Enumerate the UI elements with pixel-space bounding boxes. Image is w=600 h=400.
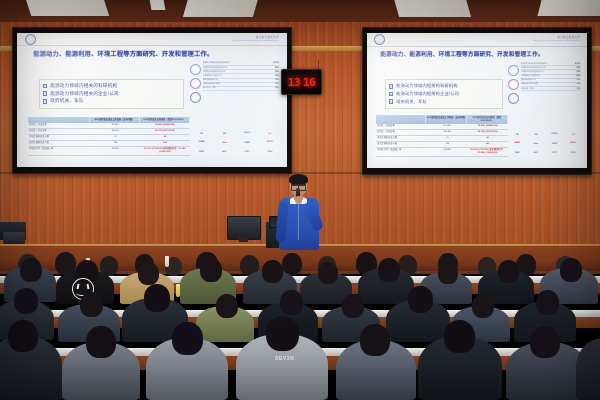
audience-head: [86, 326, 116, 358]
row-value: 院所: [275, 75, 279, 78]
jacket-zipper: [298, 200, 299, 240]
ceiling-panel: [183, 0, 259, 17]
list-item: 政府机关、军队: [389, 99, 500, 105]
company-logo: CASC: [509, 149, 526, 156]
audience-head: [560, 258, 582, 282]
digital-wall-clock: 13 16: [281, 69, 322, 95]
row-target: 199: [91, 141, 141, 146]
bullet-square-icon: [43, 99, 48, 104]
row-label: 本科生一次就业率: [28, 123, 91, 128]
bullet-text: 政府机关、军队: [50, 98, 84, 104]
slide-bullet-list: 能源动力领域内相关的科研机构 能源动力领域内相关的企业/公司 政府机关、军队: [39, 79, 185, 109]
company-logo: GE: [509, 132, 526, 139]
table-row: 政府机关、军队 机关: [203, 87, 279, 91]
company-logo: SINOPEC: [259, 140, 280, 147]
audience: SEV3N: [0, 252, 600, 400]
company-logo: VW: [528, 132, 545, 139]
row-label: 能源动力领域内相关的科研机构: [203, 62, 229, 65]
company-logo-grid: GE VW SIEMENS LG HUAWEI Haier GREE SINOP…: [509, 132, 582, 156]
bullet-text: 政府机关、军队: [396, 99, 427, 105]
water-bottle: [176, 284, 180, 297]
bullet-square-icon: [43, 84, 48, 89]
clock-minutes: 16: [303, 76, 315, 89]
row-value: 机关: [275, 87, 279, 90]
row-target: 91.36%: [91, 123, 141, 128]
row-target: 99.53%: [91, 129, 141, 134]
bullet-square-icon: [389, 99, 394, 104]
table-row: 本科生升学（含出国）率 53.34% 53.23% (775/2183) 其中国…: [28, 147, 190, 156]
row-value: 企业: [577, 83, 581, 86]
slide-side-panel: 能源动力领域内相关的科研机构 研究所 中国航空发动机集团有限公司 院所 中国航天…: [508, 63, 581, 104]
slide-side-icons: [190, 62, 201, 103]
row-value: 研究所: [575, 63, 581, 66]
projection-screen-left: 南京航空航天大学 Nanjing University of Aeronauti…: [12, 27, 292, 174]
row-label: 中国船舶重工集团公司: [203, 75, 222, 78]
company-logo: GE: [191, 131, 212, 138]
list-item: 能源动力领域内相关的科研机构: [389, 83, 500, 89]
row-target: 99.53%: [427, 130, 467, 135]
row-value: 企业: [275, 79, 279, 82]
company-logo: GREE: [237, 140, 258, 147]
row-actual: 92.75% (2317/2332): [467, 130, 507, 135]
row-value: 企业: [275, 83, 279, 86]
slide-bullet-list: 能源动力领域内相关的科研机构 能源动力领域内相关的企业/公司 政府机关、军队: [385, 79, 504, 109]
row-label: 研究生一次就业率: [376, 130, 427, 135]
row-label: 本科生国际就业人数: [28, 135, 91, 140]
lecture-hall-photo: 南京航空航天大学 Nanjing University of Aeronauti…: [0, 0, 600, 400]
table-row: 中国航空发动机集团有限公司 院所: [203, 67, 279, 71]
audience-head: [408, 286, 433, 313]
ceiling-panel: [25, 0, 109, 16]
slide-side-panel: 能源动力领域内相关的科研机构 研究所 中国航空发动机集团有限公司 院所 中国航天…: [190, 62, 279, 103]
side-monitor-base: [3, 232, 25, 244]
ceiling-panel: [538, 0, 600, 16]
company-logo: GREE: [546, 140, 563, 147]
company-logo: CSSC: [565, 149, 582, 156]
university-seal-logo: [374, 34, 385, 45]
row-label: 本科生升学（含出国）率: [28, 147, 91, 155]
audience-head: [266, 316, 299, 351]
table-row: 中国石油天然气集团 企业: [521, 83, 581, 87]
audience-head: [14, 288, 38, 314]
bullet-square-icon: [389, 84, 394, 89]
company-logo: CSSC: [259, 148, 280, 155]
row-value: 机关: [577, 88, 581, 91]
row-label: 中国航天科技集团有限公司: [521, 71, 544, 74]
employment-stats-table: 2021届毕业生就业工作目标（去年同期） 2021届毕业生去向落实（截至2021…: [28, 117, 190, 156]
laptop-icon: [508, 93, 519, 104]
column-header: 2021届毕业生去向落实（截至2021/09/01）: [467, 115, 508, 124]
company-logo-grid: GE VW SIEMENS LG HUAWEI Haier GREE SINOP…: [191, 131, 280, 155]
row-actual: 53.23% (775/2183) 其中国内升学：51.98% (1140/21…: [467, 148, 507, 156]
row-label: 能源动力领域内相关的科研机构: [521, 63, 547, 66]
row-label: 中国石油天然气集团: [203, 83, 220, 86]
row-label: 中国船舶重工集团公司: [521, 75, 540, 78]
table-row: 政府机关、军队 机关: [521, 88, 581, 92]
shirt-graphic-text: SEV3N: [275, 356, 294, 362]
audience-head: [318, 262, 338, 284]
laptop-icon: [190, 92, 201, 103]
row-target: 53.34%: [427, 148, 467, 156]
globe-icon: [508, 65, 519, 76]
employment-stats-table: 2021届毕业生就业工作目标（去年同期） 2021届毕业生去向落实（截至2021…: [376, 115, 508, 157]
company-logo: Haier: [214, 140, 235, 147]
row-label: 中国航天科技集团有限公司: [203, 71, 226, 74]
presentation-slide-left: 南京航空航天大学 Nanjing University of Aeronauti…: [17, 33, 287, 167]
row-label: 中国航空发动机集团有限公司: [521, 67, 546, 70]
university-seal-logo: [25, 34, 36, 45]
gear-icon: [508, 79, 519, 90]
company-logo: AVIC: [214, 148, 235, 155]
table-row: 能源动力领域内相关的科研机构 研究所: [203, 62, 279, 66]
table-row: 中国航空发动机集团有限公司 院所: [521, 67, 581, 71]
table-row: 能源动力领域内相关的科研机构 研究所: [521, 63, 581, 67]
row-label: 政府机关、军队: [521, 88, 534, 91]
row-value: 企业: [577, 79, 581, 82]
row-actual: 76.49% (2084/2183): [467, 124, 507, 129]
row-label: 本科生国际就业人数: [376, 136, 427, 141]
row-label: 中国航空发动机集团有限公司: [203, 67, 228, 70]
list-item: 能源动力领域内相关的科研机构: [43, 83, 181, 89]
audience-head: [472, 294, 494, 318]
bullet-text: 能源动力领域内相关的科研机构: [396, 83, 457, 89]
row-actual: 40: [140, 135, 190, 140]
row-value: 院所: [275, 67, 279, 70]
company-logo: AVIC: [528, 149, 545, 156]
slide-side-table: 能源动力领域内相关的科研机构 研究所 中国航空发动机集团有限公司 院所 中国航天…: [521, 63, 581, 104]
audience-head: [172, 322, 203, 355]
water-bottle: [165, 256, 169, 267]
monitor-stand: [239, 237, 248, 242]
company-logo: Haier: [528, 140, 545, 147]
audience-head: [498, 260, 519, 283]
column-header: 2021届毕业生就业工作目标（去年同期）: [426, 115, 467, 124]
ceiling-panel: [393, 0, 471, 17]
row-label: 国家电网有限公司: [521, 79, 536, 82]
slide-header: 南京航空航天大学 Nanjing University of Aeronauti…: [17, 33, 287, 46]
audience-head: [20, 258, 42, 282]
audience-head: [144, 284, 170, 312]
globe-icon: [190, 64, 201, 75]
row-label: 中国石油天然气集团: [521, 83, 538, 86]
row-value: 院所: [577, 75, 581, 78]
company-logo: VW: [214, 131, 235, 138]
row-target: 53.34%: [91, 147, 141, 155]
audience-head: [262, 260, 283, 283]
company-logo: HUAWEI: [509, 140, 526, 147]
audience-head: [80, 292, 103, 317]
row-label: 研究生国际就业人数: [28, 141, 91, 146]
presentation-slide-right: 南京航空航天大学 Nanjing University of Aeronauti…: [367, 33, 587, 168]
slide-side-icons: [508, 63, 519, 104]
company-logo: CETC: [237, 148, 258, 155]
row-label: 研究生一次就业率: [28, 129, 91, 134]
slide-header: 南京航空航天大学 Nanjing University of Aeronauti…: [367, 33, 587, 47]
row-actual: 142: [467, 142, 507, 147]
clock-hours: 13: [288, 76, 300, 89]
row-target: 74: [427, 136, 467, 141]
row-value: 院所: [577, 71, 581, 74]
audience-head: [360, 324, 390, 356]
audience-head: [280, 290, 303, 315]
bullet-text: 能源动力领域内相关的科研机构: [50, 83, 117, 89]
company-logo: HUAWEI: [191, 140, 212, 147]
row-actual: 53.23% (775/2183) 其中国内升学：51.98% (1140/21…: [140, 147, 190, 155]
audience-head: [444, 320, 475, 353]
row-target: 199: [427, 142, 467, 147]
row-target: 74: [91, 135, 141, 140]
audience-head: [200, 258, 222, 282]
list-item: 能源动力领域内相关的企业/公司: [389, 91, 500, 97]
company-logo: SIEMENS: [546, 132, 563, 139]
slide-side-table: 能源动力领域内相关的科研机构 研究所 中国航空发动机集团有限公司 院所 中国航天…: [203, 62, 279, 103]
audience-head: [536, 290, 559, 315]
row-label: 本科生一次就业率: [376, 124, 427, 129]
row-actual: 40: [467, 136, 507, 141]
row-label: 国家电网有限公司: [203, 79, 218, 82]
bullet-square-icon: [389, 92, 394, 97]
university-name: 南京航空航天大学 Nanjing University of Aeronauti…: [533, 37, 580, 42]
university-name: 南京航空航天大学 Nanjing University of Aeronauti…: [232, 37, 279, 42]
list-item: 能源动力领域内相关的企业/公司: [43, 91, 181, 97]
bullet-text: 能源动力领域内相关的企业/公司: [396, 91, 459, 97]
audience-head: [530, 326, 560, 358]
presenter: [277, 176, 321, 250]
audience-head: [438, 262, 458, 284]
audience-head: [378, 258, 400, 282]
column-header: [376, 115, 426, 124]
audience-head: [8, 320, 38, 352]
table-row: 中国航天科技集团有限公司 院所: [203, 71, 279, 75]
university-name-en: Nanjing University of Aeronautics and As…: [533, 40, 580, 42]
row-actual: 92.75% (2317/2332): [140, 129, 190, 134]
slide-title: 能源动力、能源利用、环境工程等方面研究、开发和管理工作。: [380, 51, 576, 59]
company-logo: LG: [259, 131, 280, 138]
row-actual: 76.49% (2084/2183): [140, 123, 190, 128]
row-value: 院所: [275, 71, 279, 74]
row-label: 政府机关、军队: [203, 87, 216, 90]
table-row: 本科生升学（含出国）率 53.34% 53.23% (775/2183) 其中国…: [376, 148, 508, 157]
university-name-en: Nanjing University of Aeronautics and As…: [232, 40, 279, 42]
presenter-hand: [295, 196, 302, 204]
bullet-square-icon: [43, 91, 48, 96]
company-logo: CASC: [191, 148, 212, 155]
audience-head: [138, 262, 159, 285]
row-label: 本科生升学（含出国）率: [376, 148, 427, 156]
audience-head: [216, 294, 238, 318]
gear-icon: [190, 78, 201, 89]
slide-title: 能源动力、能源利用、环境工程等方面研究、开发和管理工作。: [33, 50, 273, 59]
ceiling-panel: [149, 0, 166, 10]
list-item: 政府机关、军队: [43, 98, 181, 104]
row-actual: 142: [140, 141, 190, 146]
audience-head: [342, 294, 364, 318]
company-logo: LG: [565, 132, 582, 139]
row-value: 研究所: [273, 62, 279, 65]
row-label: 研究生国际就业人数: [376, 142, 427, 147]
bullet-text: 能源动力领域内相关的企业/公司: [50, 91, 119, 97]
table-header-row: 2021届毕业生就业工作目标（去年同期） 2021届毕业生去向落实（截至2021…: [376, 115, 508, 124]
row-target: 91.36%: [427, 124, 467, 129]
projection-screen-right: 南京航空航天大学 Nanjing University of Aeronauti…: [362, 27, 592, 175]
company-logo: SIEMENS: [237, 131, 258, 138]
table-row: 中国船舶重工集团公司 院所: [203, 75, 279, 79]
company-logo: SINOPEC: [565, 140, 582, 147]
company-logo: CETC: [546, 149, 563, 156]
row-value: 院所: [577, 67, 581, 70]
